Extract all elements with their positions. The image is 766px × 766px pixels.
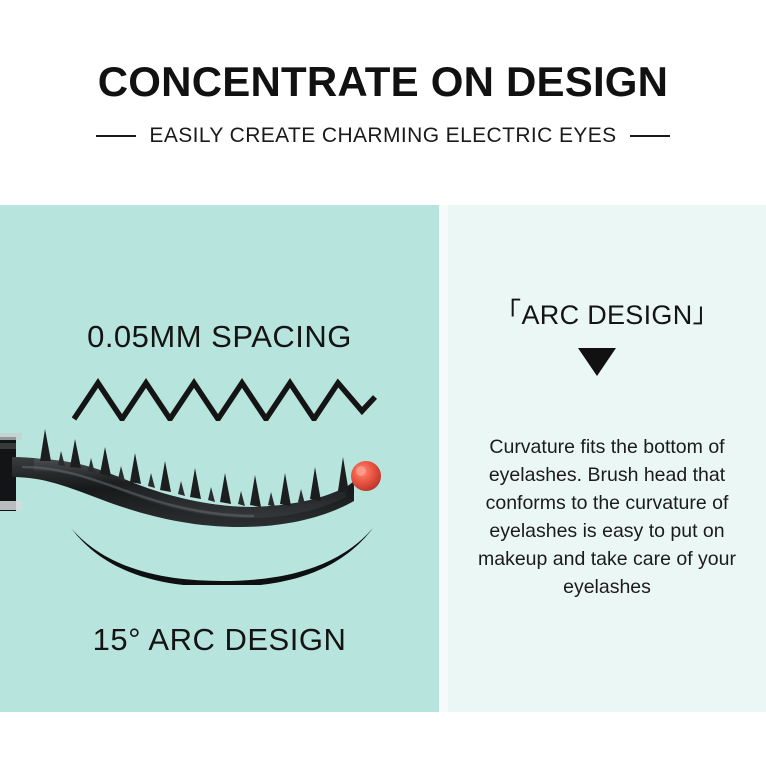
left-feature-panel: 0.05MM SPACING [0,205,439,712]
arrow-down-icon [578,348,616,376]
right-dash-icon [630,135,670,137]
arc-angle-label: 15° ARC DESIGN [0,622,439,658]
arc-curve-icon [68,523,376,585]
panel-divider [439,205,448,712]
product-feature-graphic: CONCENTRATE ON DESIGN EASILY CREATE CHAR… [0,0,766,766]
right-feature-panel: 「ARC DESIGN」 Curvature fits the bottom o… [448,205,766,712]
zigzag-line-icon [72,377,377,421]
corner-bracket-open-icon: 「 [494,298,521,328]
panels-row: 0.05MM SPACING [0,205,766,712]
page-title: CONCENTRATE ON DESIGN [0,57,766,107]
subtitle-row: EASILY CREATE CHARMING ELECTRIC EYES [0,124,766,148]
page-subtitle: EASILY CREATE CHARMING ELECTRIC EYES [149,124,616,148]
feature-description: Curvature fits the bottom of eyelashes. … [460,433,754,601]
header-band: CONCENTRATE ON DESIGN EASILY CREATE CHAR… [0,0,766,205]
arc-design-heading-text: ARC DESIGN [521,300,692,330]
corner-bracket-close-icon: 」 [693,298,720,328]
spacing-label: 0.05MM SPACING [0,319,439,355]
arc-design-heading: 「ARC DESIGN」 [448,293,766,332]
left-dash-icon [96,135,136,137]
